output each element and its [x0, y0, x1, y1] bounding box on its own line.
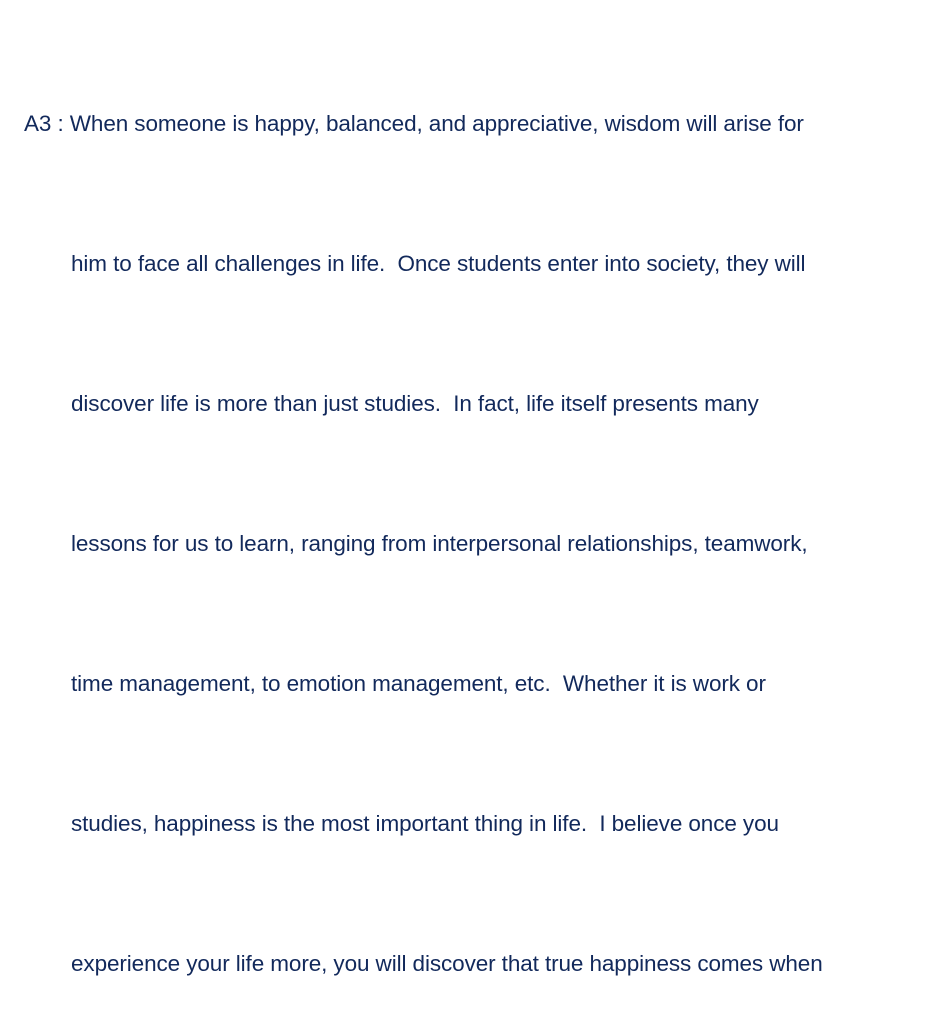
document-page: A3 : When someone is happy, balanced, an… [0, 0, 935, 512]
answer-text-block: A3 : When someone is happy, balanced, an… [24, 1, 915, 1024]
answer-line-text: him to face all challenges in life. Once… [71, 251, 805, 276]
answer-line-6: studies, happiness is the most important… [24, 806, 915, 841]
answer-label: A3 : [24, 111, 70, 136]
answer-line-4: lessons for us to learn, ranging from in… [24, 526, 915, 561]
answer-line-7: experience your life more, you will disc… [24, 946, 915, 981]
answer-line-text: When someone is happy, balanced, and app… [70, 111, 804, 136]
answer-line-text: studies, happiness is the most important… [71, 811, 779, 836]
answer-line-text: time management, to emotion management, … [71, 671, 766, 696]
answer-line-5: time management, to emotion management, … [24, 666, 915, 701]
answer-line-2: him to face all challenges in life. Once… [24, 246, 915, 281]
answer-line-text: lessons for us to learn, ranging from in… [71, 531, 808, 556]
answer-line-text: experience your life more, you will disc… [71, 951, 823, 976]
answer-line-3: discover life is more than just studies.… [24, 386, 915, 421]
answer-line-1: A3 : When someone is happy, balanced, an… [24, 106, 915, 141]
answer-line-text: discover life is more than just studies.… [71, 391, 759, 416]
